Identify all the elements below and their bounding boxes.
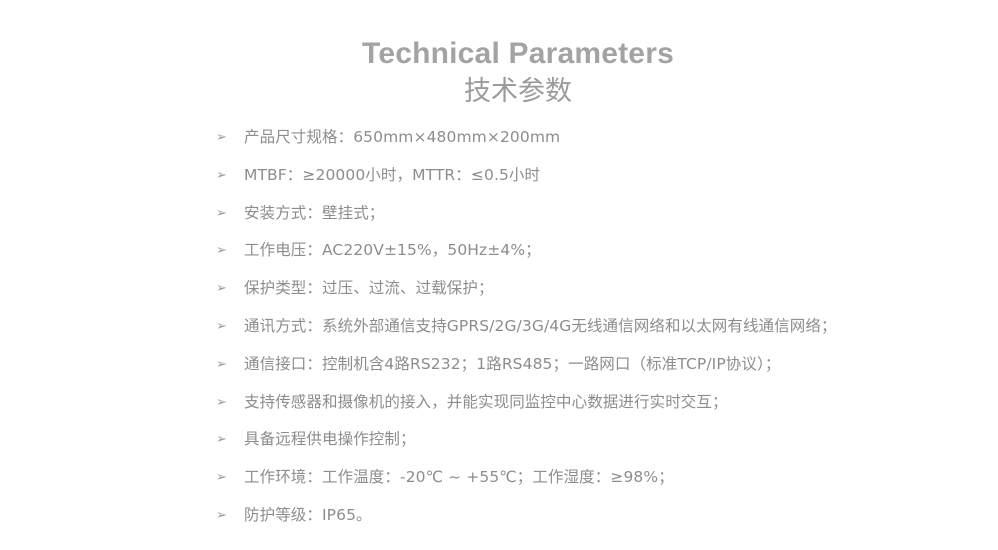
bullet-triangle-icon: ➢ [216, 238, 244, 263]
spec-text-mtbf-mttr: MTBF：≥20000小时，MTTR：≤0.5小时 [244, 163, 540, 187]
bullet-triangle-icon: ➢ [216, 276, 244, 301]
list-item: ➢ 防护等级：IP65。 [216, 503, 837, 541]
bullet-triangle-icon: ➢ [216, 163, 244, 188]
spec-text-communication-interface: 通信接口：控制机含4路RS232；1路RS485；一路网口（标准TCP/IP协议… [244, 352, 780, 376]
list-item: ➢ MTBF：≥20000小时，MTTR：≤0.5小时 [216, 163, 837, 201]
spec-text-installation-method: 安装方式：壁挂式； [244, 201, 384, 225]
list-item: ➢ 工作电压：AC220V±15%，50Hz±4%； [216, 238, 837, 276]
specification-list: ➢ 产品尺寸规格：650mm×480mm×200mm ➢ MTBF：≥20000… [216, 125, 837, 541]
spec-text-working-environment: 工作环境：工作温度：-20℃ ~ +55℃；工作湿度：≥98%； [244, 465, 674, 489]
bullet-triangle-icon: ➢ [216, 352, 244, 377]
page-title-chinese: 技术参数 [0, 75, 998, 109]
list-item: ➢ 支持传感器和摄像机的接入，并能实现同监控中心数据进行实时交互； [216, 390, 837, 428]
bullet-triangle-icon: ➢ [216, 465, 244, 490]
bullet-triangle-icon: ➢ [216, 201, 244, 226]
list-item: ➢ 通信接口：控制机含4路RS232；1路RS485；一路网口（标准TCP/IP… [216, 352, 837, 390]
page-title-english: Technical Parameters [0, 36, 998, 72]
bullet-triangle-icon: ➢ [216, 503, 244, 528]
list-item: ➢ 保护类型：过压、过流、过载保护； [216, 276, 837, 314]
spec-text-protection-rating: 防护等级：IP65。 [244, 503, 372, 527]
spec-text-protection-type: 保护类型：过压、过流、过载保护； [244, 276, 494, 300]
spec-text-working-voltage: 工作电压：AC220V±15%，50Hz±4%； [244, 238, 541, 262]
spec-text-sensor-camera-support: 支持传感器和摄像机的接入，并能实现同监控中心数据进行实时交互； [244, 390, 728, 414]
bullet-triangle-icon: ➢ [216, 390, 244, 415]
technical-parameters-page: Technical Parameters 技术参数 ➢ 产品尺寸规格：650mm… [0, 0, 998, 550]
bullet-triangle-icon: ➢ [216, 125, 244, 150]
spec-text-communication-method: 通讯方式：系统外部通信支持GPRS/2G/3G/4G无线通信网络和以太网有线通信… [244, 314, 837, 338]
list-item: ➢ 安装方式：壁挂式； [216, 201, 837, 239]
bullet-triangle-icon: ➢ [216, 314, 244, 339]
list-item: ➢ 产品尺寸规格：650mm×480mm×200mm [216, 125, 837, 163]
spec-text-product-dimensions: 产品尺寸规格：650mm×480mm×200mm [244, 125, 560, 149]
list-item: ➢ 通讯方式：系统外部通信支持GPRS/2G/3G/4G无线通信网络和以太网有线… [216, 314, 837, 352]
list-item: ➢ 具备远程供电操作控制； [216, 427, 837, 465]
spec-text-remote-power-control: 具备远程供电操作控制； [244, 427, 416, 451]
list-item: ➢ 工作环境：工作温度：-20℃ ~ +55℃；工作湿度：≥98%； [216, 465, 837, 503]
page-heading: Technical Parameters 技术参数 [0, 36, 998, 109]
bullet-triangle-icon: ➢ [216, 427, 244, 452]
